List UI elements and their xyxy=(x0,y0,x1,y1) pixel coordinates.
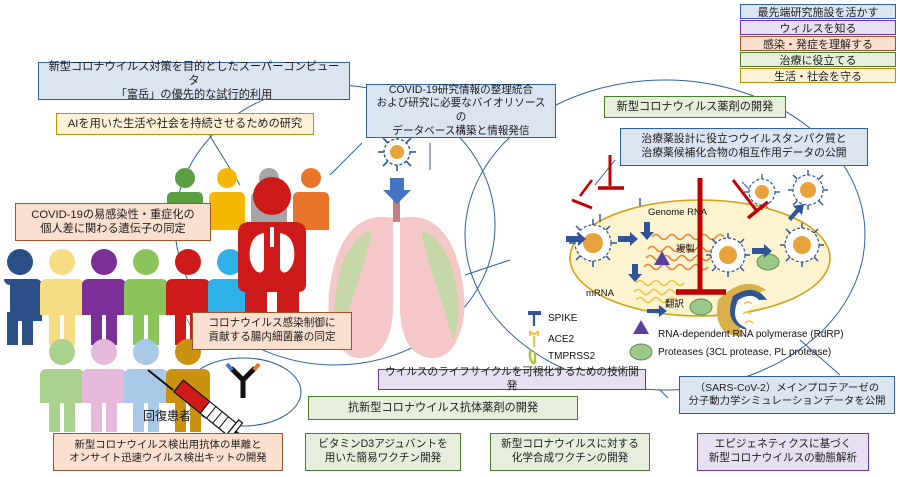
legend-item-2-label: 感染・発症を理解する xyxy=(763,36,873,52)
box-lifecycle-tech: ウイルスのライフサイクルを可視化するための技術開発 xyxy=(378,369,646,390)
box-protease-md-line1: （SARS-CoV-2）メインプロテアーゼの xyxy=(695,382,879,395)
box-database: COVID-19研究情報の整理統合 および研究に必要なバイオリソースの データベ… xyxy=(366,84,556,138)
legend-item-1: ウィルスを知る xyxy=(740,20,896,35)
box-genetics-line2: 個人差に関わる遺伝子の同定 xyxy=(40,222,185,236)
box-antibody-drug-label: 抗新型コロナウイルス抗体薬剤の開発 xyxy=(348,401,538,415)
label-replication: 複製 xyxy=(676,241,695,255)
box-detection-kit-line1: 新型コロナウイルス検出用抗体の単離と xyxy=(74,439,261,452)
box-vitamin-d3-vaccine: ビタミンD3アジュバントを 用いた簡易ワクチン開発 xyxy=(305,433,461,471)
box-vitamin-d3-vaccine-line1: ビタミンD3アジュバントを xyxy=(318,438,447,452)
virus-particle-exiting xyxy=(780,223,824,267)
virus-particle-entering xyxy=(569,219,617,267)
box-synthetic-vaccine-line1: 新型コロナウイルスに対する xyxy=(501,438,639,452)
box-microbiome: コロナウイルス感染制御に 貢献する腸内細菌叢の同定 xyxy=(192,312,352,350)
box-epigenetics-line1: エピジェネティクスに基づく xyxy=(715,438,852,452)
cell-legend-rdrp-label: RNA-dependent RNA polymerase (RdRP) xyxy=(658,329,844,340)
cell-diagram xyxy=(566,170,830,336)
box-ai-society: AIを用いた生活や社会を持続させるための研究 xyxy=(56,113,314,135)
legend-item-4-label: 生活・社会を守る xyxy=(774,68,862,84)
legend-item-4: 生活・社会を守る xyxy=(740,68,896,83)
box-protein-interaction: 治療薬設計に役立つウイルスタンパク質と 治療薬候補化合物の相互作用データの公開 xyxy=(620,128,868,166)
box-epigenetics-line2: 新型コロナウイルスの動態解析 xyxy=(709,452,857,466)
virus-particle-free-2 xyxy=(744,174,780,210)
antibody-icon xyxy=(227,364,259,398)
box-lifecycle-tech-label: ウイルスのライフサイクルを可視化するための技術開発 xyxy=(384,366,640,393)
box-ai-society-label: AIを用いた生活や社会を持続させるための研究 xyxy=(68,117,302,131)
rdrp-glyph xyxy=(633,320,649,334)
box-database-line3: データベース構築と情報発信 xyxy=(392,125,529,139)
legend-item-2: 感染・発症を理解する xyxy=(740,36,896,51)
ace2-glyph xyxy=(530,331,538,347)
legend-item-0: 最先端研究施設を活かす xyxy=(740,4,896,19)
inhibition-markers xyxy=(572,155,768,292)
box-supercomputer: 新型コロナウイルス対策を目的としたスーパーコンピュータ 「富岳」の優先的な試行的… xyxy=(38,62,350,100)
box-synthetic-vaccine: 新型コロナウイルスに対する 化学合成ワクチンの開発 xyxy=(490,433,650,471)
spike-glyph xyxy=(528,311,541,326)
cell-legend-spike-label: SPIKE xyxy=(548,313,577,324)
legend-item-3-label: 治療に役立てる xyxy=(780,52,857,68)
cell-legend-tmprss2-label: TMPRSS2 xyxy=(548,351,595,362)
legend-item-0-label: 最先端研究施設を活かす xyxy=(758,4,879,20)
box-microbiome-line1: コロナウイルス感染制御に xyxy=(208,317,335,331)
box-database-line1: COVID-19研究情報の整理統合 xyxy=(389,84,533,98)
box-epigenetics: エピジェネティクスに基づく 新型コロナウイルスの動態解析 xyxy=(697,433,869,471)
box-protease-md-line2: 分子動力学シミュレーションデータを公開 xyxy=(688,395,885,408)
tmprss2-glyph xyxy=(530,350,535,363)
box-vitamin-d3-vaccine-line2: 用いた簡易ワクチン開発 xyxy=(325,452,442,466)
box-drug-development-label: 新型コロナウイルス薬剤の開発 xyxy=(617,100,774,114)
label-translation: 翻訳 xyxy=(665,296,684,310)
box-microbiome-line2: 貢献する腸内細菌叢の同定 xyxy=(208,331,335,345)
box-protein-interaction-line2: 治療薬候補化合物の相互作用データの公開 xyxy=(641,147,846,161)
box-supercomputer-line1: 新型コロナウイルス対策を目的としたスーパーコンピュータ xyxy=(44,60,344,89)
virus-entry-arrow xyxy=(378,133,416,204)
label-genome-rna: Genome RNA xyxy=(648,207,707,218)
box-supercomputer-line2: 「富岳」の優先的な試行的利用 xyxy=(116,88,273,102)
box-detection-kit-line2: オンサイト迅速ウイルス検出キットの開発 xyxy=(69,452,266,465)
virus-particle-released xyxy=(788,170,828,210)
protease-glyph xyxy=(630,344,652,360)
box-detection-kit: 新型コロナウイルス検出用抗体の単離と オンサイト迅速ウイルス検出キットの開発 xyxy=(53,433,283,471)
legend-item-3: 治療に役立てる xyxy=(740,52,896,67)
box-protease-md: （SARS-CoV-2）メインプロテアーゼの 分子動力学シミュレーションデータを… xyxy=(679,376,895,414)
box-drug-development: 新型コロナウイルス薬剤の開発 xyxy=(604,96,786,118)
box-genetics: COVID-19の易感染性・重症化の 個人差に関わる遺伝子の同定 xyxy=(15,203,211,241)
box-synthetic-vaccine-line2: 化学合成ワクチンの開発 xyxy=(512,452,629,466)
legend-item-1-label: ウィルスを知る xyxy=(780,20,857,36)
virus-particle-assembled xyxy=(706,233,750,277)
box-protein-interaction-line1: 治療薬設計に役立つウイルスタンパク質と xyxy=(641,133,846,147)
infographic-canvas: 最先端研究施設を活かす ウィルスを知る 感染・発症を理解する 治療に役立てる 生… xyxy=(0,0,900,477)
box-genetics-line1: COVID-19の易感染性・重症化の xyxy=(31,208,194,222)
box-database-line2: および研究に必要なバイオリソースの xyxy=(372,97,550,124)
label-mrna: mRNA xyxy=(586,288,614,299)
box-antibody-drug: 抗新型コロナウイルス抗体薬剤の開発 xyxy=(308,396,578,420)
cell-legend-ace2-label: ACE2 xyxy=(548,334,574,345)
label-recovered-patient: 回復患者 xyxy=(143,407,191,424)
cell-legend-proteases-label: Proteases (3CL protease, PL protease) xyxy=(658,347,831,358)
